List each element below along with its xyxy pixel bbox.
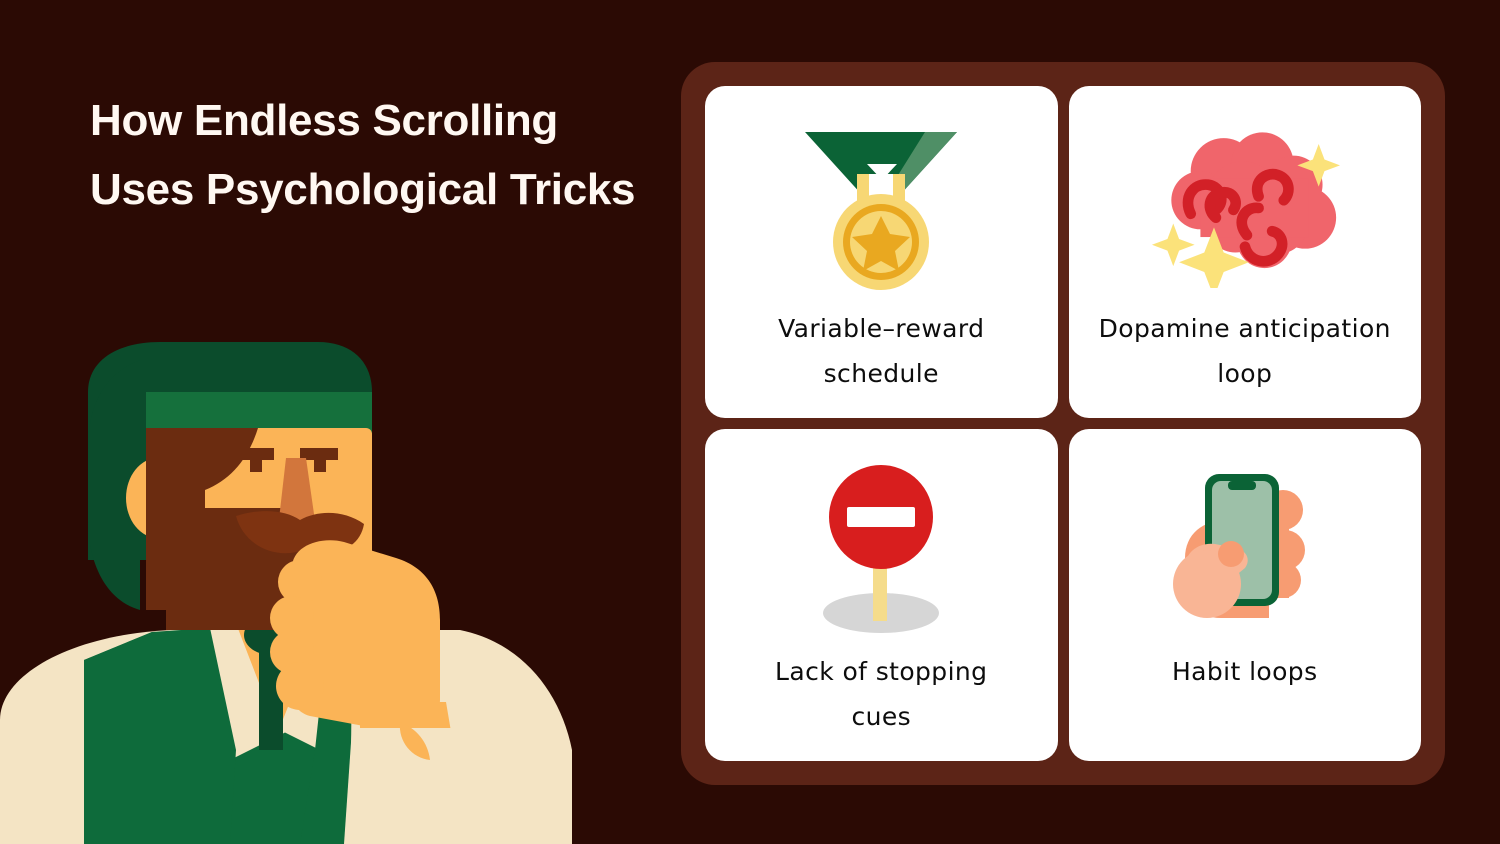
card-label: Habit loops (1095, 649, 1395, 694)
brain-sparkle-icon (1150, 118, 1340, 296)
card-label: Lack of stopping cues (746, 649, 1016, 739)
card-variable-reward-schedule[interactable]: Variable–reward schedule (705, 86, 1058, 418)
tricks-grid: Variable–reward schedule (705, 86, 1421, 761)
page-title: How Endless Scrolling Uses Psychological… (90, 86, 650, 224)
card-lack-of-stopping-cues[interactable]: Lack of stopping cues (705, 429, 1058, 761)
medal-icon (786, 118, 976, 296)
card-label: Dopamine anticipation loop (1095, 306, 1395, 396)
infographic-canvas: How Endless Scrolling Uses Psychological… (0, 0, 1500, 844)
card-habit-loops[interactable]: Habit loops (1069, 429, 1422, 761)
thinking-man-illustration (0, 330, 600, 844)
hand-holding-phone-icon (1150, 461, 1340, 639)
no-entry-sign-icon (786, 461, 976, 639)
card-label: Variable–reward schedule (746, 306, 1016, 396)
card-dopamine-anticipation-loop[interactable]: Dopamine anticipation loop (1069, 86, 1422, 418)
tricks-panel: Variable–reward schedule (681, 62, 1445, 785)
